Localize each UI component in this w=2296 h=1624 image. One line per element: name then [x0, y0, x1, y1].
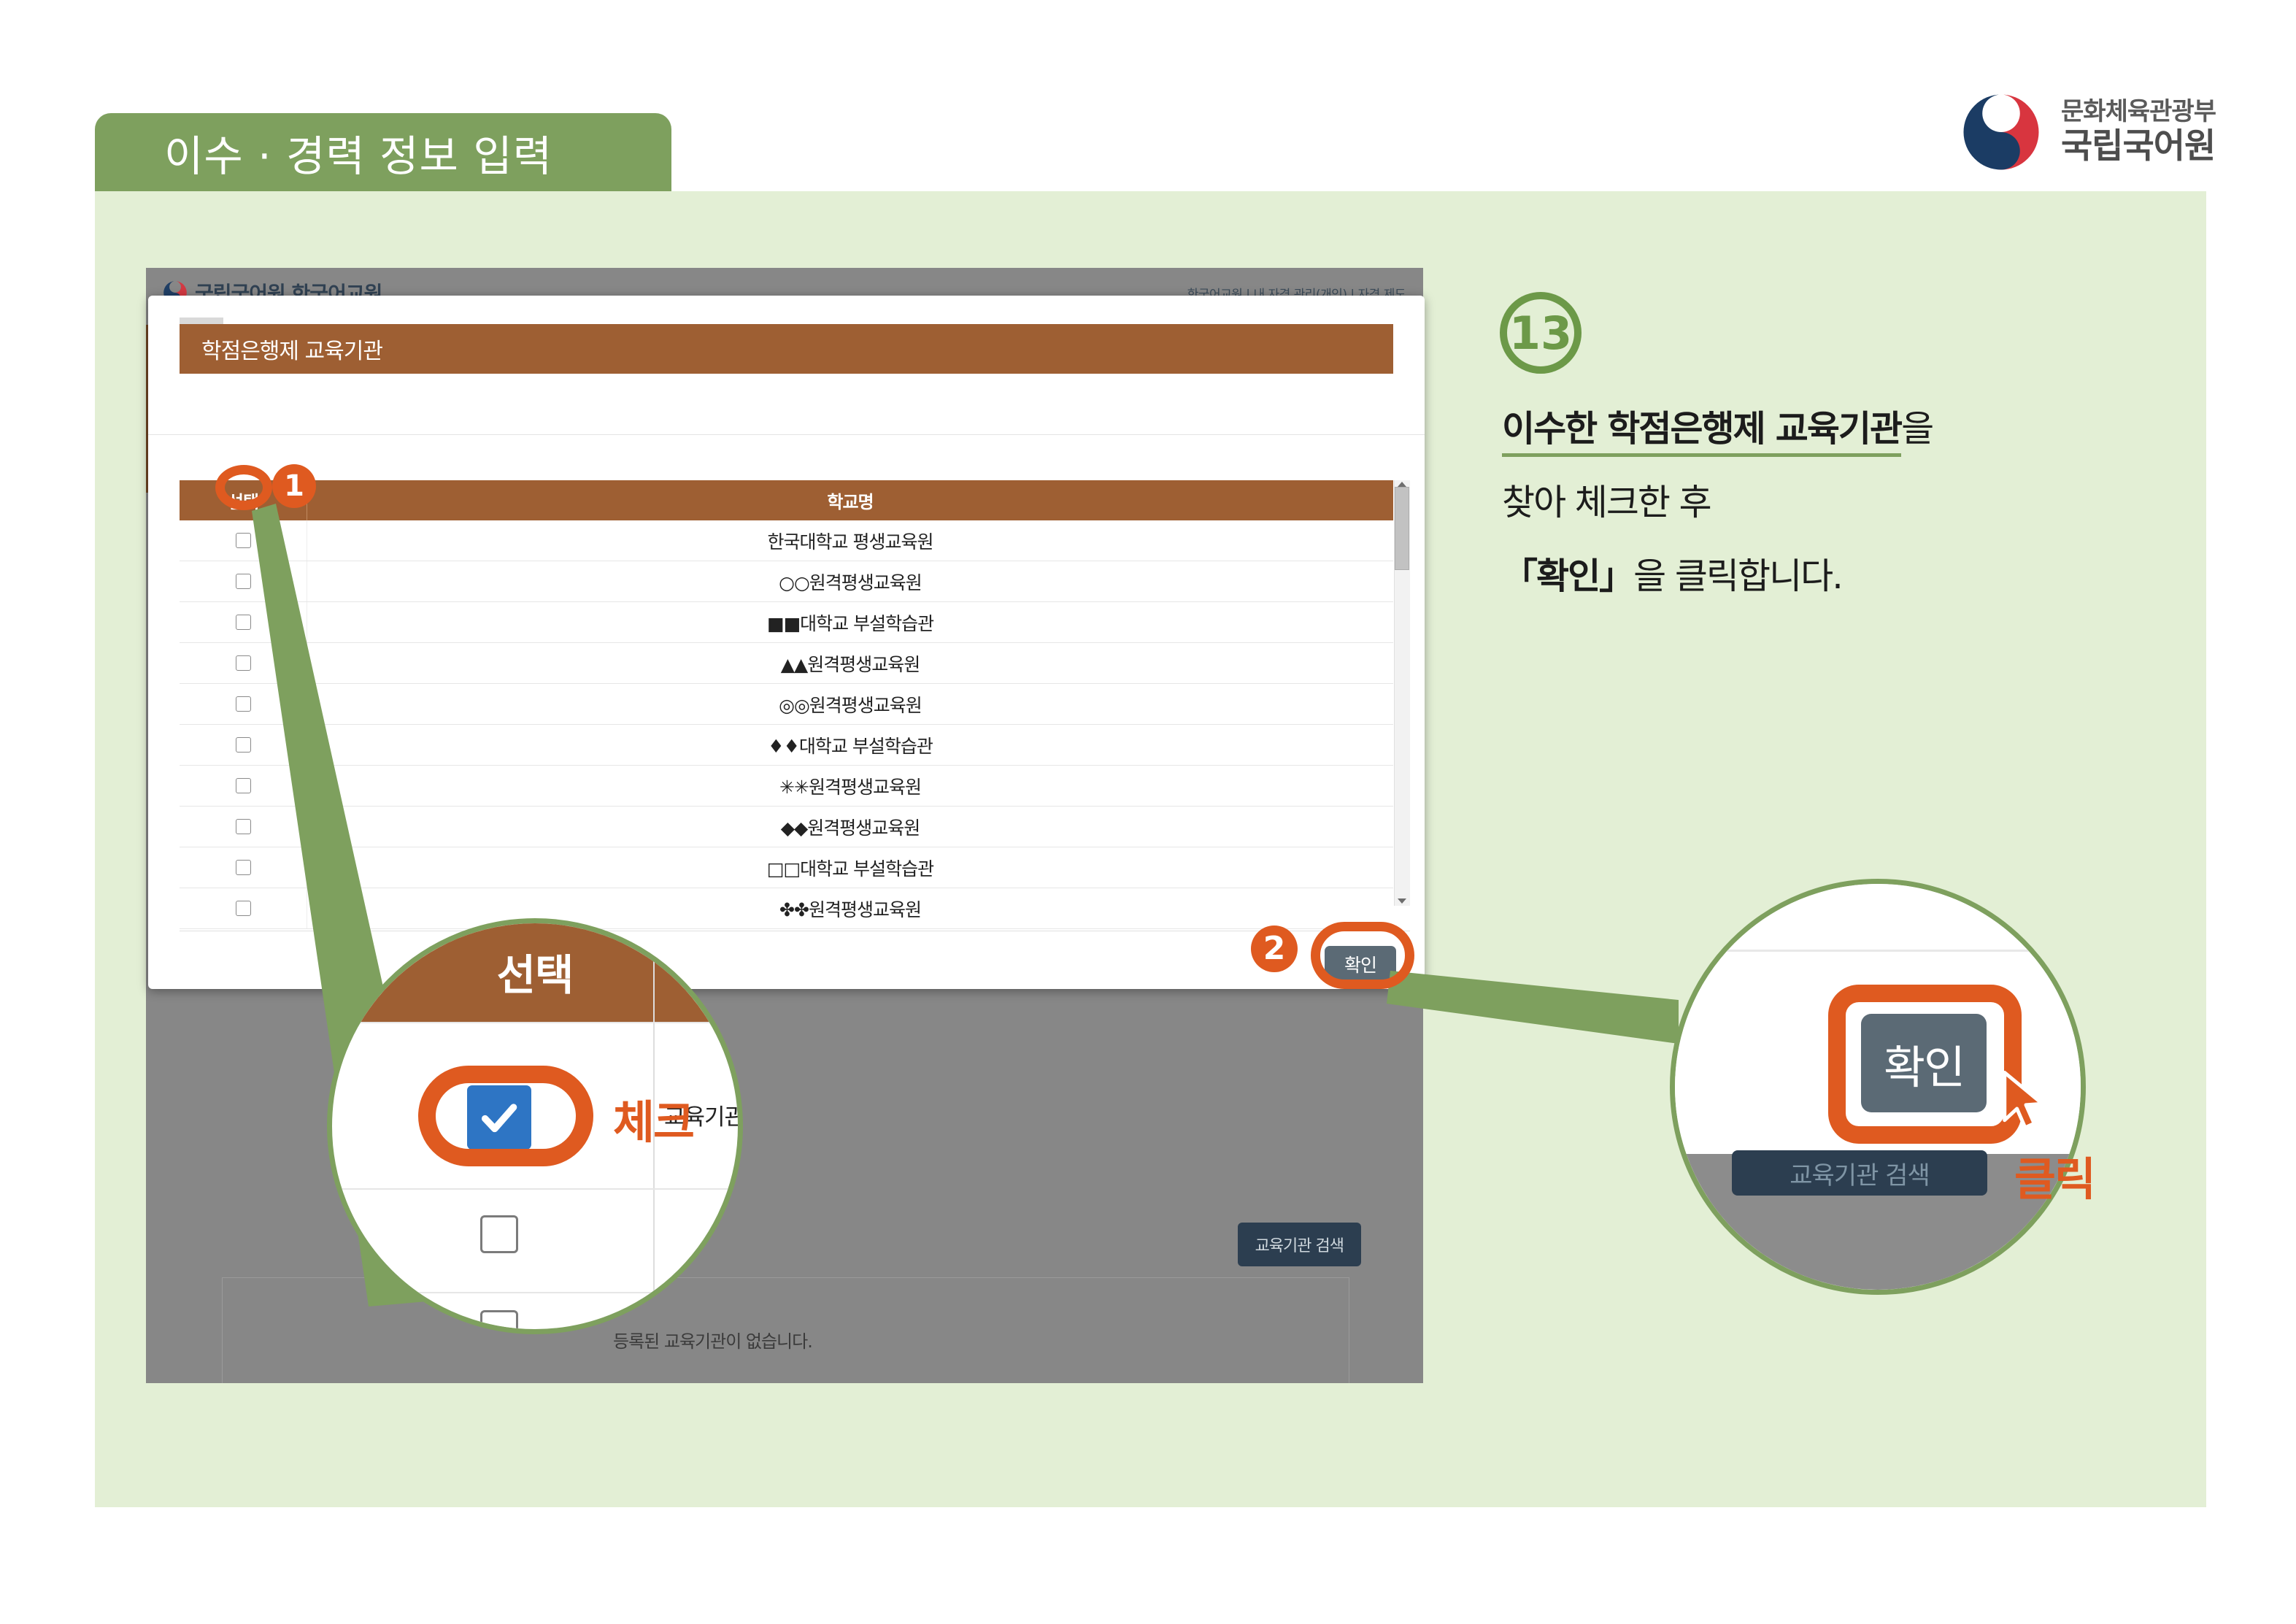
step-badge-1: 1	[272, 464, 316, 508]
row-school-name: ✤✤원격평생교육원	[779, 896, 921, 922]
table-header-row: 선택 학교명	[180, 480, 1393, 520]
table-row[interactable]: ♦♦대학교 부설학습관	[180, 725, 1393, 766]
instruction-line-2: 찾아 체크한 후	[1502, 474, 2181, 526]
step-number-badge: 13	[1500, 292, 1582, 374]
mouse-cursor-icon	[2000, 1069, 2052, 1135]
row-checkbox[interactable]	[236, 819, 251, 834]
table-row[interactable]: ○○원격평생교육원	[180, 561, 1393, 602]
row-school-name: ✳✳원격평생교육원	[779, 773, 921, 799]
organization-logo: 문화체육관광부 국립국어원	[1960, 91, 2216, 173]
taegeuk-logo-icon	[1960, 91, 2042, 173]
scrollbar-thumb[interactable]	[1395, 487, 1409, 570]
row-checkbox[interactable]	[236, 737, 251, 753]
column-header-school: 학교명	[827, 488, 873, 513]
table-row[interactable]: ◎◎원격평생교육원	[180, 684, 1393, 725]
click-annotation-label: 클릭	[2014, 1142, 2095, 1208]
row-checkbox[interactable]	[236, 574, 251, 589]
magnified-divider	[1675, 950, 2081, 952]
row-checkbox[interactable]	[236, 615, 251, 630]
row-school-name: ◆◆원격평생교육원	[781, 814, 920, 840]
institution-search-button[interactable]: 교육기관 검색	[1238, 1223, 1361, 1266]
row-school-name: 한국대학교 평생교육원	[768, 528, 933, 554]
table-row[interactable]: ■■대학교 부설학습관	[180, 602, 1393, 643]
institution-select-modal: 학점은행제 교육기관 선택 학교명 한국대학교 평생교육원 ○○원격평생교육원 …	[148, 296, 1425, 989]
modal-divider	[148, 434, 1425, 435]
checkbox-highlight-ring	[215, 465, 272, 510]
row-checkbox[interactable]	[236, 533, 251, 548]
instruction-line-3: 「확인」을 클릭합니다.	[1502, 547, 2181, 599]
magnified-checkbox-ring	[418, 1066, 593, 1166]
instruction-line-1-tail: 을	[1901, 408, 1933, 450]
page-title-banner: 이수 · 경력 정보 입력	[95, 113, 671, 192]
magnified-column-header-select: 선택	[332, 941, 738, 1002]
instruction-underlined-phrase: 이수한 학점은행제 교육기관	[1502, 408, 1901, 457]
scroll-up-arrow-icon[interactable]	[1398, 482, 1406, 487]
row-school-name: ◎◎원격평생교육원	[779, 691, 922, 717]
row-school-name: ■■대학교 부설학습관	[767, 609, 933, 636]
instruction-line-1: 이수한 학점은행제 교육기관을	[1502, 400, 2181, 452]
modal-tab-marker	[180, 318, 223, 324]
magnified-row-divider	[332, 1188, 738, 1190]
empty-state-message: 등록된 교육기관이 없습니다.	[613, 1327, 812, 1352]
step-badge-2: 2	[1251, 925, 1298, 972]
row-checkbox[interactable]	[236, 696, 251, 712]
instruction-text: 이수한 학점은행제 교육기관을 찾아 체크한 후 「확인」을 클릭합니다.	[1502, 400, 2181, 599]
table-row[interactable]: 한국대학교 평생교육원	[180, 520, 1393, 561]
instruction-line-3-tail: 을 클릭합니다.	[1633, 555, 1842, 597]
row-checkbox[interactable]	[236, 778, 251, 793]
logo-institute-name: 국립국어원	[2061, 128, 2216, 166]
magnified-search-button[interactable]: 교육기관 검색	[1732, 1150, 1987, 1196]
row-school-name: □□대학교 부설학습관	[767, 855, 933, 881]
table-row[interactable]: ▲▲원격평생교육원	[180, 643, 1393, 684]
magnifier-checkbox: 선택 교육기관 체크	[327, 918, 743, 1334]
row-school-name: ○○원격평생교육원	[779, 569, 922, 595]
confirm-highlight-ring	[1311, 922, 1414, 989]
row-checkbox[interactable]	[236, 901, 251, 916]
row-school-name: ▲▲원격평생교육원	[781, 650, 920, 677]
instruction-quoted-button: 「확인」	[1502, 555, 1633, 597]
magnified-row-divider	[332, 1292, 738, 1293]
modal-title: 학점은행제 교육기관	[201, 333, 382, 365]
institution-table: 선택 학교명 한국대학교 평생교육원 ○○원격평생교육원 ■■대학교 부설학습관…	[180, 480, 1393, 929]
scroll-down-arrow-icon[interactable]	[1398, 898, 1406, 904]
modal-header: 학점은행제 교육기관	[180, 324, 1393, 374]
table-row[interactable]: □□대학교 부설학습관	[180, 847, 1393, 888]
magnified-row-divider	[332, 1022, 738, 1023]
row-checkbox[interactable]	[236, 860, 251, 875]
row-checkbox[interactable]	[236, 655, 251, 671]
slide-root: 이수 · 경력 정보 입력 문화체육관광부 국립국어원 국립국어원 한국어교원	[0, 0, 2296, 1624]
page-title: 이수 · 경력 정보 입력	[164, 122, 552, 183]
magnified-empty-checkbox[interactable]	[480, 1215, 518, 1253]
check-annotation-label: 체크	[613, 1085, 693, 1151]
logo-ministry-name: 문화체육관광부	[2061, 99, 2216, 126]
magnified-confirm-ring	[1828, 985, 2022, 1144]
table-row[interactable]: ◆◆원격평생교육원	[180, 807, 1393, 847]
row-school-name: ♦♦대학교 부설학습관	[768, 732, 933, 758]
table-row[interactable]: ✳✳원격평생교육원	[180, 766, 1393, 807]
